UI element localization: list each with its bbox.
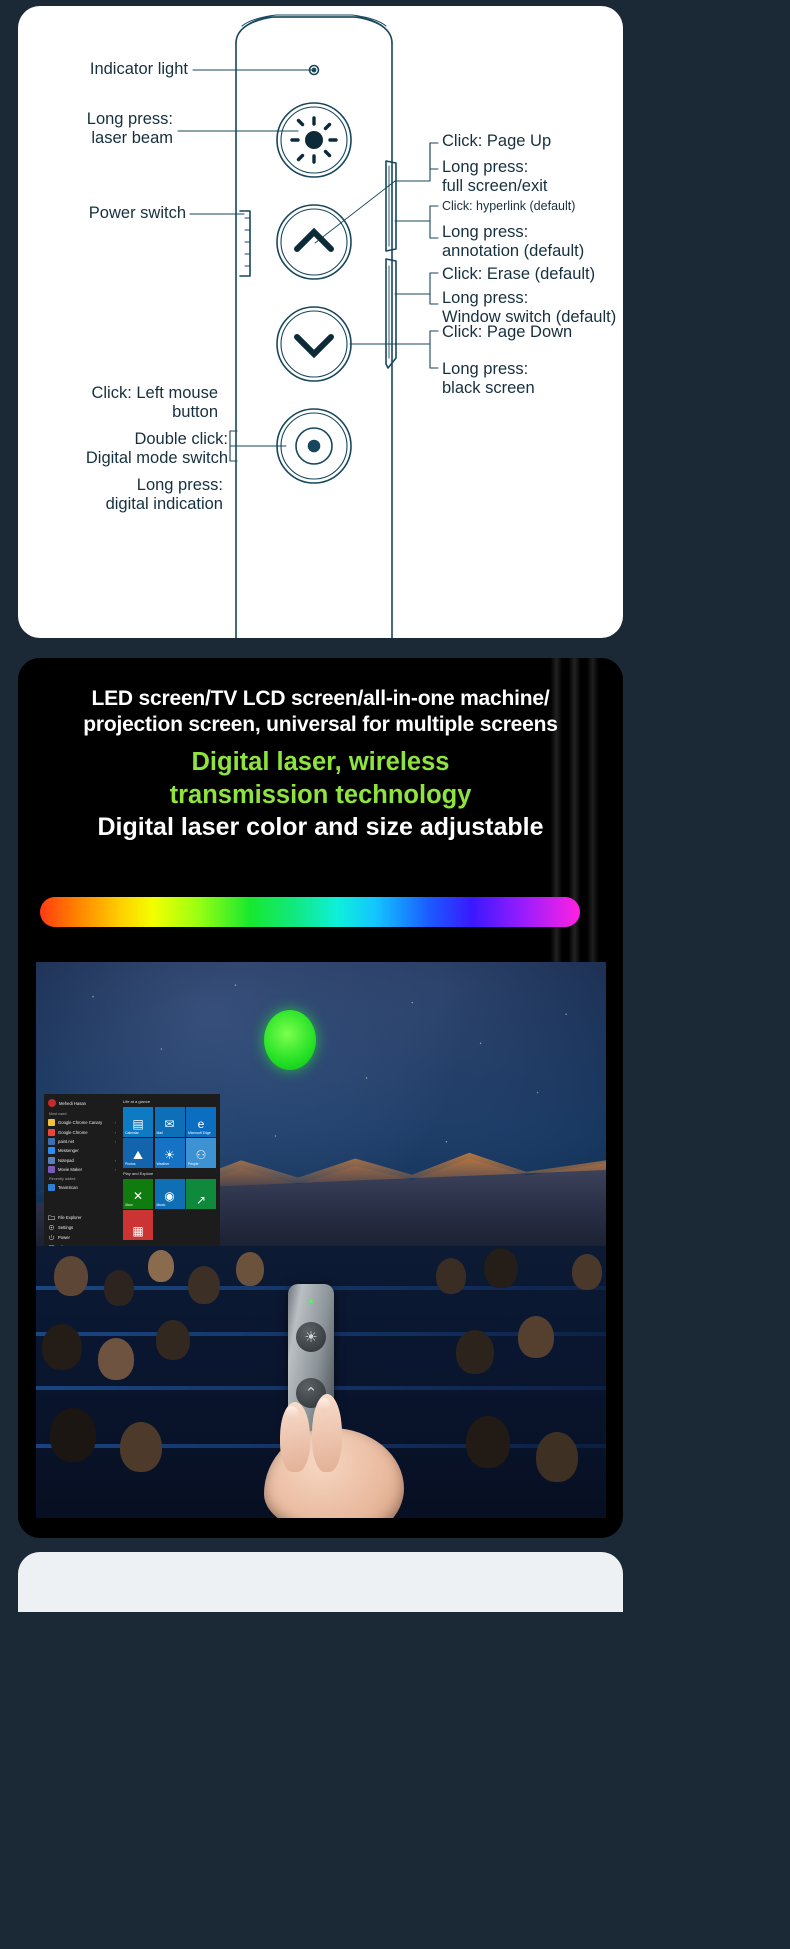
audience-head	[484, 1248, 518, 1288]
audience-head	[236, 1252, 264, 1286]
fingernail	[286, 1406, 298, 1420]
callout-hyperlink-long: Long press: annotation (default)	[442, 223, 623, 262]
calendar-icon: ▤	[132, 1118, 143, 1130]
callout-page-up-click: Click: Page Up	[442, 132, 622, 151]
app-icon	[48, 1119, 55, 1126]
recently-added-label: Recently added	[49, 1177, 116, 1181]
callout-indicator-light: Indicator light	[28, 60, 188, 79]
tile-group-title: Life at a glance	[123, 1099, 217, 1104]
audience-head	[572, 1254, 602, 1290]
promo-green-line2: transmission technology	[18, 779, 623, 812]
app-icon	[48, 1184, 55, 1191]
start-menu-app[interactable]: TeamScan	[48, 1183, 116, 1192]
photos-icon: ⛰	[133, 1149, 143, 1161]
system-label: Power	[58, 1235, 70, 1240]
audience-head	[156, 1320, 190, 1360]
app-label: TeamScan	[58, 1185, 78, 1190]
audience-head	[536, 1268, 564, 1302]
audience-head	[42, 1324, 82, 1370]
gear-icon	[48, 1224, 55, 1231]
audience-head	[104, 1270, 134, 1306]
start-menu-app[interactable]: Google Chrome ›	[48, 1127, 116, 1136]
xbox-icon: ✕	[133, 1190, 143, 1202]
chevron-right-icon: ›	[115, 1158, 116, 1163]
app-icon	[48, 1147, 55, 1154]
next-section-card	[18, 1552, 623, 1612]
callout-left-mouse: Click: Left mouse button	[28, 384, 218, 423]
tile-label: Mail	[157, 1131, 183, 1135]
start-menu-app[interactable]: Messenger	[48, 1146, 116, 1155]
audience-head	[188, 1266, 220, 1304]
tile-weather[interactable]: ☀ Weather	[155, 1138, 185, 1168]
tile-edge[interactable]: e Microsoft Edge	[186, 1107, 216, 1137]
power-icon	[48, 1234, 55, 1241]
app-icon	[48, 1166, 55, 1173]
tile-people[interactable]: ⚇ People	[186, 1138, 216, 1168]
green-laser-dot	[264, 1010, 316, 1070]
chevron-right-icon: ›	[115, 1167, 116, 1172]
callout-erase-click: Click: Erase (default)	[442, 265, 623, 284]
tile-calendar[interactable]: ▤ Calendar	[123, 1107, 153, 1137]
start-menu-app[interactable]: Google Chrome Canary ›	[48, 1118, 116, 1127]
edge-icon: e	[198, 1118, 205, 1130]
promo-green-headline: Digital laser, wireless transmission tec…	[18, 746, 623, 812]
music-icon: ◉	[164, 1190, 174, 1202]
app-icon	[48, 1129, 55, 1136]
start-menu-app[interactable]: Notepad ›	[48, 1156, 116, 1165]
avatar	[48, 1099, 56, 1107]
laser-color-gradient-bar	[40, 897, 580, 927]
windows-start-menu[interactable]: Mehedi Hasan Most used Google Chrome Can…	[44, 1094, 220, 1256]
audience-head	[518, 1316, 554, 1358]
tile-label: Microsoft Edge	[188, 1131, 214, 1135]
system-label: Settings	[58, 1225, 73, 1230]
presentation-photo: Mehedi Hasan Most used Google Chrome Can…	[36, 962, 606, 1518]
app-label: Notepad	[58, 1158, 74, 1163]
start-menu-power[interactable]: Power	[48, 1233, 118, 1243]
audience-head	[466, 1416, 510, 1468]
promo-green-line1: Digital laser, wireless	[18, 746, 623, 779]
app-icon	[48, 1157, 55, 1164]
tile-mail[interactable]: ✉ Mail	[155, 1107, 185, 1137]
chevron-right-icon: ›	[115, 1130, 116, 1135]
laser-button[interactable]: ☀	[296, 1322, 326, 1352]
remote-diagram-card: Indicator light Long press: laser beam P…	[18, 6, 623, 638]
office-icon: ▦	[132, 1225, 143, 1237]
callout-digital-mode: Double click: Digital mode switch	[28, 430, 228, 469]
app-label: Movie Maker	[58, 1167, 82, 1172]
audience-head	[536, 1432, 578, 1482]
callout-power-switch: Power switch	[28, 204, 186, 223]
product-detail-page: Indicator light Long press: laser beam P…	[0, 0, 790, 1949]
indicator-led	[310, 1300, 313, 1303]
callout-page-down-click: Click: Page Down	[442, 323, 623, 342]
audience-head	[148, 1250, 174, 1282]
tile-music[interactable]: ◉ Music	[155, 1179, 185, 1209]
promo-headline: LED screen/TV LCD screen/all-in-one mach…	[18, 686, 623, 739]
start-menu-left-column: Mehedi Hasan Most used Google Chrome Can…	[44, 1094, 120, 1256]
audience-head	[54, 1256, 88, 1296]
tile-store[interactable]: ↗	[186, 1179, 216, 1209]
tile-label: People	[188, 1162, 214, 1166]
audience-head	[120, 1422, 162, 1472]
system-label: File Explorer	[58, 1215, 82, 1220]
audience-head	[98, 1338, 134, 1380]
callout-page-up-long: Long press: full screen/exit	[442, 158, 622, 197]
promo-headline-line2: projection screen, universal for multipl…	[18, 712, 623, 738]
promo-subline: Digital laser color and size adjustable	[18, 813, 623, 842]
start-menu-app[interactable]: paint.net ›	[48, 1137, 116, 1146]
callout-page-down-long: Long press: black screen	[442, 360, 623, 399]
folder-icon	[48, 1214, 55, 1221]
app-label: Google Chrome Canary	[58, 1120, 102, 1125]
fingernail	[318, 1398, 330, 1412]
chevron-right-icon: ›	[115, 1139, 116, 1144]
trend-up-icon: ↗	[196, 1194, 206, 1206]
most-used-label: Most used	[49, 1112, 116, 1116]
people-icon: ⚇	[196, 1149, 207, 1161]
tile-group-title: Play and Explore	[123, 1171, 217, 1176]
app-label: Messenger	[58, 1148, 79, 1153]
callout-hyperlink-click: Click: hyperlink (default)	[442, 199, 623, 214]
promo-card: LED screen/TV LCD screen/all-in-one mach…	[18, 658, 623, 1538]
callout-digital-indication: Long press: digital indication	[28, 476, 223, 515]
chevron-right-icon: ›	[115, 1120, 116, 1125]
start-menu-user[interactable]: Mehedi Hasan	[48, 1099, 116, 1107]
audience-head	[456, 1330, 494, 1374]
tile-photos[interactable]: ⛰ Photos	[123, 1138, 153, 1168]
promo-headline-line1: LED screen/TV LCD screen/all-in-one mach…	[18, 686, 623, 712]
tile-xbox[interactable]: ✕ Xbox	[123, 1179, 153, 1209]
tile-group-life: ▤ Calendar ✉ Mail e Microsoft Edge	[123, 1107, 217, 1169]
tile-label: Xbox	[125, 1203, 151, 1207]
callout-laser-beam: Long press: laser beam	[28, 110, 173, 149]
start-menu-app[interactable]: Movie Maker ›	[48, 1165, 116, 1174]
projection-screen: Mehedi Hasan Most used Google Chrome Can…	[36, 962, 606, 1252]
app-label: paint.net	[58, 1139, 74, 1144]
tile-office[interactable]: ▦	[123, 1210, 153, 1240]
tile-group-play: ✕ Xbox ◉ Music ↗	[123, 1179, 217, 1241]
tile-label: Weather	[157, 1162, 183, 1166]
tile-label: Music	[157, 1203, 183, 1207]
app-label: Google Chrome	[58, 1130, 88, 1135]
tile-label: Calendar	[125, 1131, 151, 1135]
start-menu-settings[interactable]: Settings	[48, 1222, 118, 1232]
tile-label: Photos	[125, 1162, 151, 1166]
start-menu-username: Mehedi Hasan	[59, 1101, 86, 1106]
start-menu-tiles-column: Life at a glance ▤ Calendar ✉ Mail	[120, 1094, 220, 1256]
start-menu-file-explorer[interactable]: File Explorer	[48, 1212, 118, 1222]
envelope-icon: ✉	[164, 1118, 174, 1130]
audience-head	[436, 1258, 466, 1294]
audience-head	[50, 1408, 96, 1462]
app-icon	[48, 1138, 55, 1145]
sun-icon: ☀	[164, 1149, 175, 1161]
